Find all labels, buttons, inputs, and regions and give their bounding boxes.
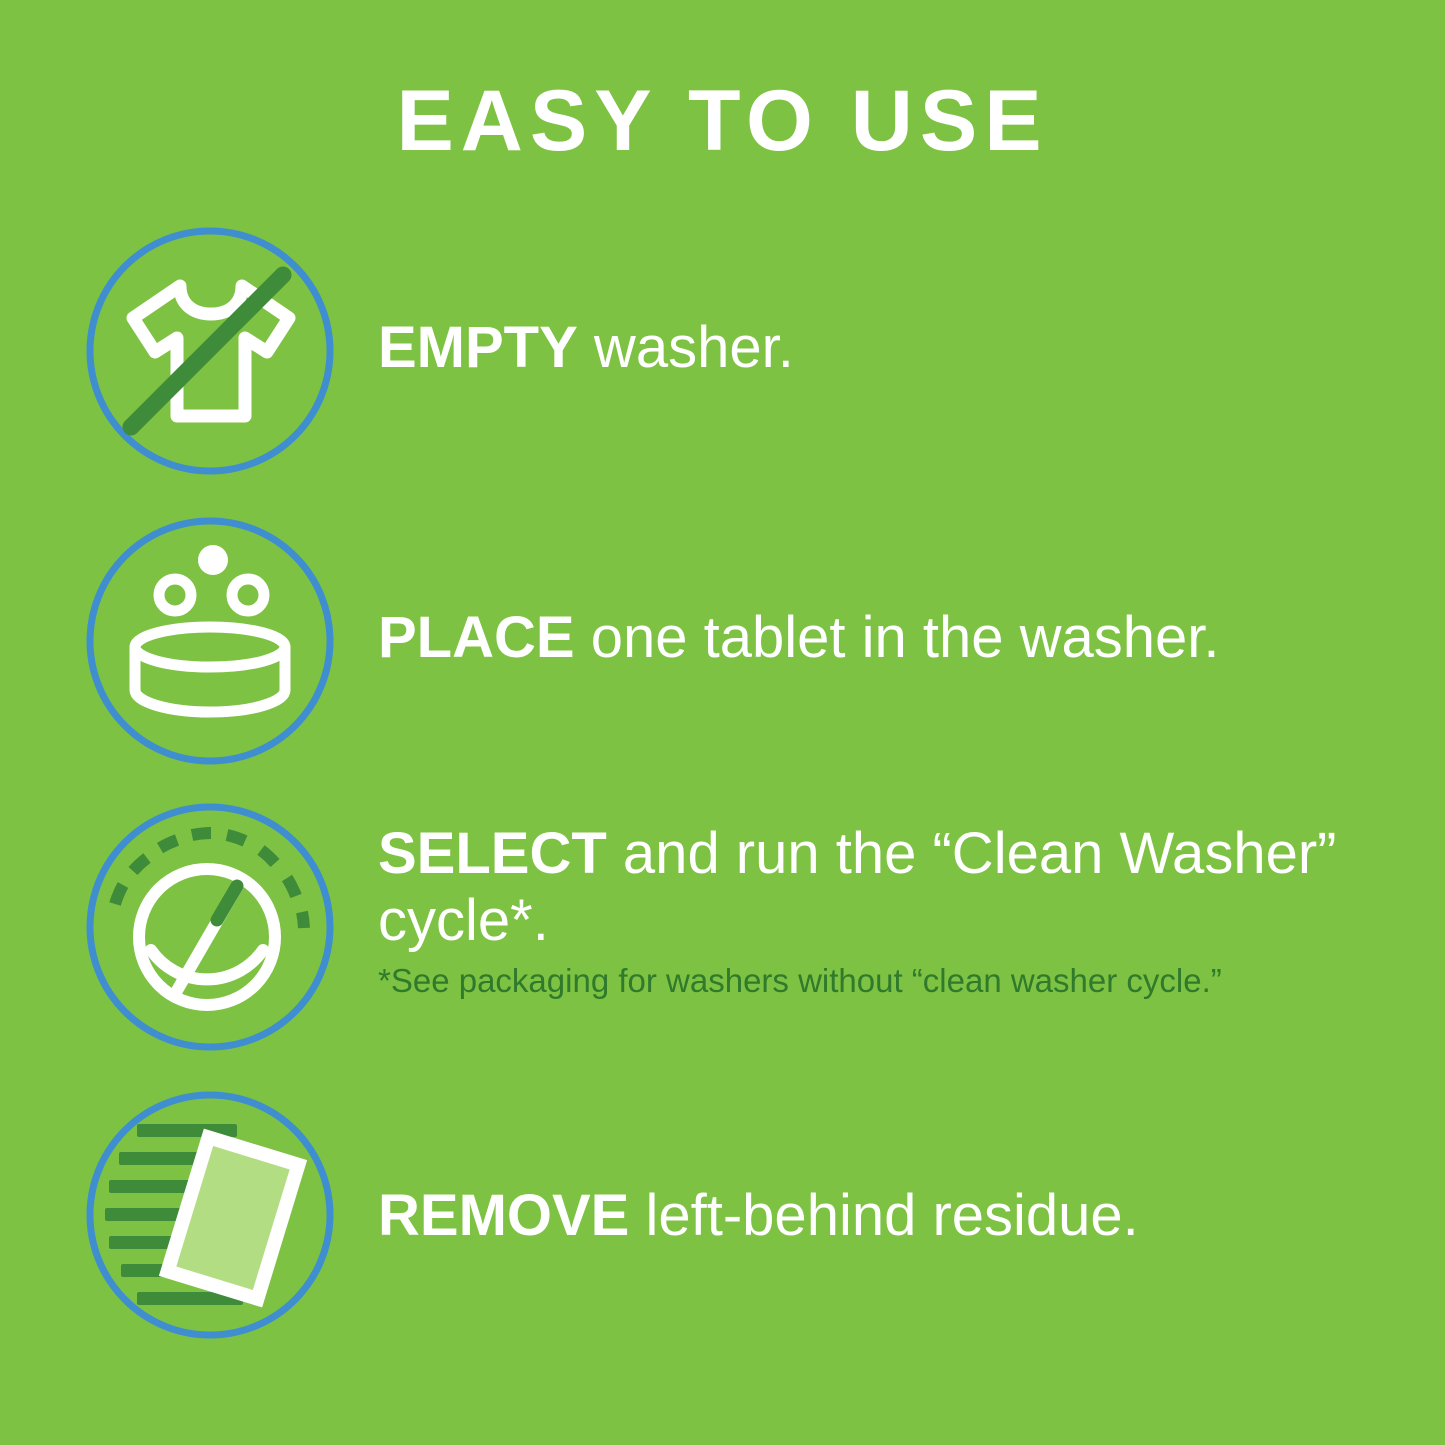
step-keyword: PLACE bbox=[378, 605, 575, 670]
step-text-remove: REMOVE left-behind residue. bbox=[378, 1182, 1388, 1249]
wipe-residue-icon bbox=[85, 1090, 335, 1340]
step-row-select: SELECT and run the “Clean Washer” cycle*… bbox=[0, 802, 1445, 1058]
step-text-place: PLACE one tablet in the washer. bbox=[378, 604, 1388, 671]
step-keyword: EMPTY bbox=[378, 315, 578, 380]
step-keyword: REMOVE bbox=[378, 1183, 629, 1248]
step-row-place: PLACE one tablet in the washer. bbox=[0, 516, 1445, 772]
tablet-with-bubbles-icon bbox=[85, 516, 335, 766]
step-headline: SELECT and run the “Clean Washer” cycle*… bbox=[378, 820, 1388, 955]
no-shirt-icon bbox=[85, 226, 335, 476]
step-headline: REMOVE left-behind residue. bbox=[378, 1182, 1388, 1249]
step-rest: one tablet in the washer. bbox=[575, 605, 1220, 670]
step-footnote: *See packaging for washers without “clea… bbox=[378, 961, 1388, 1001]
step-keyword: SELECT bbox=[378, 821, 607, 886]
step-text-select: SELECT and run the “Clean Washer” cycle*… bbox=[378, 820, 1388, 1001]
step-row-remove: REMOVE left-behind residue. bbox=[0, 1090, 1445, 1346]
step-headline: EMPTY washer. bbox=[378, 314, 1388, 381]
step-row-empty: EMPTY washer. bbox=[0, 226, 1445, 482]
infographic-poster: EASY TO USE EMPTY washer. bbox=[0, 0, 1445, 1445]
page-title: EASY TO USE bbox=[0, 78, 1445, 164]
step-headline: PLACE one tablet in the washer. bbox=[378, 604, 1388, 671]
step-rest: washer. bbox=[578, 315, 794, 380]
washer-dial-icon bbox=[85, 802, 335, 1052]
step-rest: left-behind residue. bbox=[629, 1183, 1138, 1248]
step-text-empty: EMPTY washer. bbox=[378, 314, 1388, 381]
